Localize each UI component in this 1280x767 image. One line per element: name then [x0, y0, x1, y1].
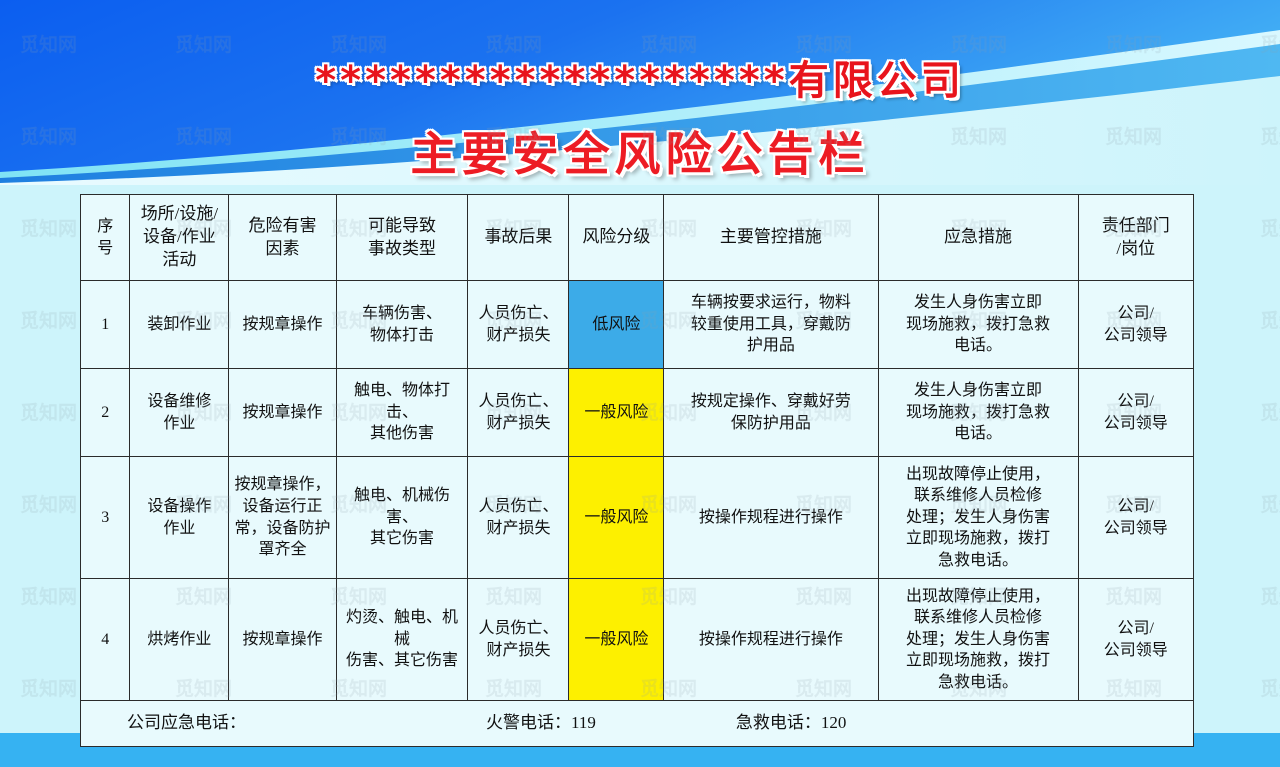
cell-controls: 按操作规程进行操作 [664, 579, 878, 701]
table-header-row: 序号 场所/设施/设备/作业活动 危险有害因素 可能导致事故类型 事故后果 风险… [81, 195, 1194, 281]
cell-accident-type: 触电、物体打击、其他伤害 [336, 369, 468, 457]
cell-consequence: 人员伤亡、财产损失 [468, 281, 569, 369]
cell-emergency: 出现故障停止使用，联系维修人员检修处理；发生人身伤害立即现场施救，拨打急救电话。 [878, 579, 1078, 701]
emergency-phone-bar: 公司应急电话： 火警电话：119 急救电话：120 [81, 701, 1194, 747]
column-header-consequence: 事故后果 [468, 195, 569, 281]
cell-risk-level: 一般风险 [569, 579, 664, 701]
table-header: 序号 场所/设施/设备/作业活动 危险有害因素 可能导致事故类型 事故后果 风险… [81, 195, 1194, 281]
cell-consequence: 人员伤亡、财产损失 [468, 457, 569, 579]
column-header-emergency: 应急措施 [878, 195, 1078, 281]
cell-hazard: 按规章操作 [229, 281, 336, 369]
company-emergency-phone-label: 公司应急电话： [127, 712, 246, 735]
cell-consequence: 人员伤亡、财产损失 [468, 579, 569, 701]
cell-hazard: 按规章操作，设备运行正常，设备防护罩齐全 [229, 457, 336, 579]
cell-department: 公司/公司领导 [1078, 579, 1194, 701]
column-header-no: 序号 [81, 195, 130, 281]
table-row: 1 装卸作业 按规章操作 车辆伤害、物体打击 人员伤亡、财产损失 低风险 车辆按… [81, 281, 1194, 369]
cell-controls: 按规定操作、穿戴好劳保防护用品 [664, 369, 878, 457]
column-header-place: 场所/设施/设备/作业活动 [130, 195, 229, 281]
cell-controls: 按操作规程进行操作 [664, 457, 878, 579]
column-header-controls: 主要管控措施 [664, 195, 878, 281]
cell-department: 公司/公司领导 [1078, 369, 1194, 457]
table-footer-row: 公司应急电话： 火警电话：119 急救电话：120 [81, 701, 1194, 747]
column-header-hazard: 危险有害因素 [229, 195, 336, 281]
fire-phone-label: 火警电话：119 [486, 712, 596, 735]
cell-accident-type: 触电、机械伤害、其它伤害 [336, 457, 468, 579]
cell-hazard: 按规章操作 [229, 369, 336, 457]
ambulance-phone-label: 急救电话：120 [736, 712, 847, 735]
table-row: 2 设备维修作业 按规章操作 触电、物体打击、其他伤害 人员伤亡、财产损失 一般… [81, 369, 1194, 457]
cell-consequence: 人员伤亡、财产损失 [468, 369, 569, 457]
table-body: 1 装卸作业 按规章操作 车辆伤害、物体打击 人员伤亡、财产损失 低风险 车辆按… [81, 281, 1194, 747]
cell-risk-level: 一般风险 [569, 457, 664, 579]
cell-risk-level: 一般风险 [569, 369, 664, 457]
column-header-department: 责任部门/岗位 [1078, 195, 1194, 281]
column-header-risk-level: 风险分级 [569, 195, 664, 281]
cell-accident-type: 灼烫、触电、机械伤害、其它伤害 [336, 579, 468, 701]
table-row: 4 烘烤作业 按规章操作 灼烫、触电、机械伤害、其它伤害 人员伤亡、财产损失 一… [81, 579, 1194, 701]
cell-emergency: 出现故障停止使用，联系维修人员检修处理；发生人身伤害立即现场施救，拨打急救电话。 [878, 457, 1078, 579]
cell-accident-type: 车辆伤害、物体打击 [336, 281, 468, 369]
cell-controls: 车辆按要求运行，物料较重使用工具，穿戴防护用品 [664, 281, 878, 369]
cell-place: 装卸作业 [130, 281, 229, 369]
board-title: 主要安全风险公告栏 [0, 118, 1280, 184]
cell-place: 烘烤作业 [130, 579, 229, 701]
cell-risk-level: 低风险 [569, 281, 664, 369]
header-banner: *******************有限公司 主要安全风险公告栏 [0, 0, 1280, 185]
cell-place: 设备操作作业 [130, 457, 229, 579]
cell-emergency: 发生人身伤害立即现场施救，拨打急救电话。 [878, 369, 1078, 457]
column-header-accident-type: 可能导致事故类型 [336, 195, 468, 281]
cell-no: 2 [81, 369, 130, 457]
risk-announcement-table: 序号 场所/设施/设备/作业活动 危险有害因素 可能导致事故类型 事故后果 风险… [80, 194, 1194, 747]
cell-department: 公司/公司领导 [1078, 457, 1194, 579]
cell-place: 设备维修作业 [130, 369, 229, 457]
cell-no: 4 [81, 579, 130, 701]
company-name-title: *******************有限公司 [0, 48, 1280, 106]
cell-no: 1 [81, 281, 130, 369]
cell-hazard: 按规章操作 [229, 579, 336, 701]
cell-emergency: 发生人身伤害立即现场施救，拨打急救电话。 [878, 281, 1078, 369]
cell-department: 公司/公司领导 [1078, 281, 1194, 369]
cell-no: 3 [81, 457, 130, 579]
table-row: 3 设备操作作业 按规章操作，设备运行正常，设备防护罩齐全 触电、机械伤害、其它… [81, 457, 1194, 579]
